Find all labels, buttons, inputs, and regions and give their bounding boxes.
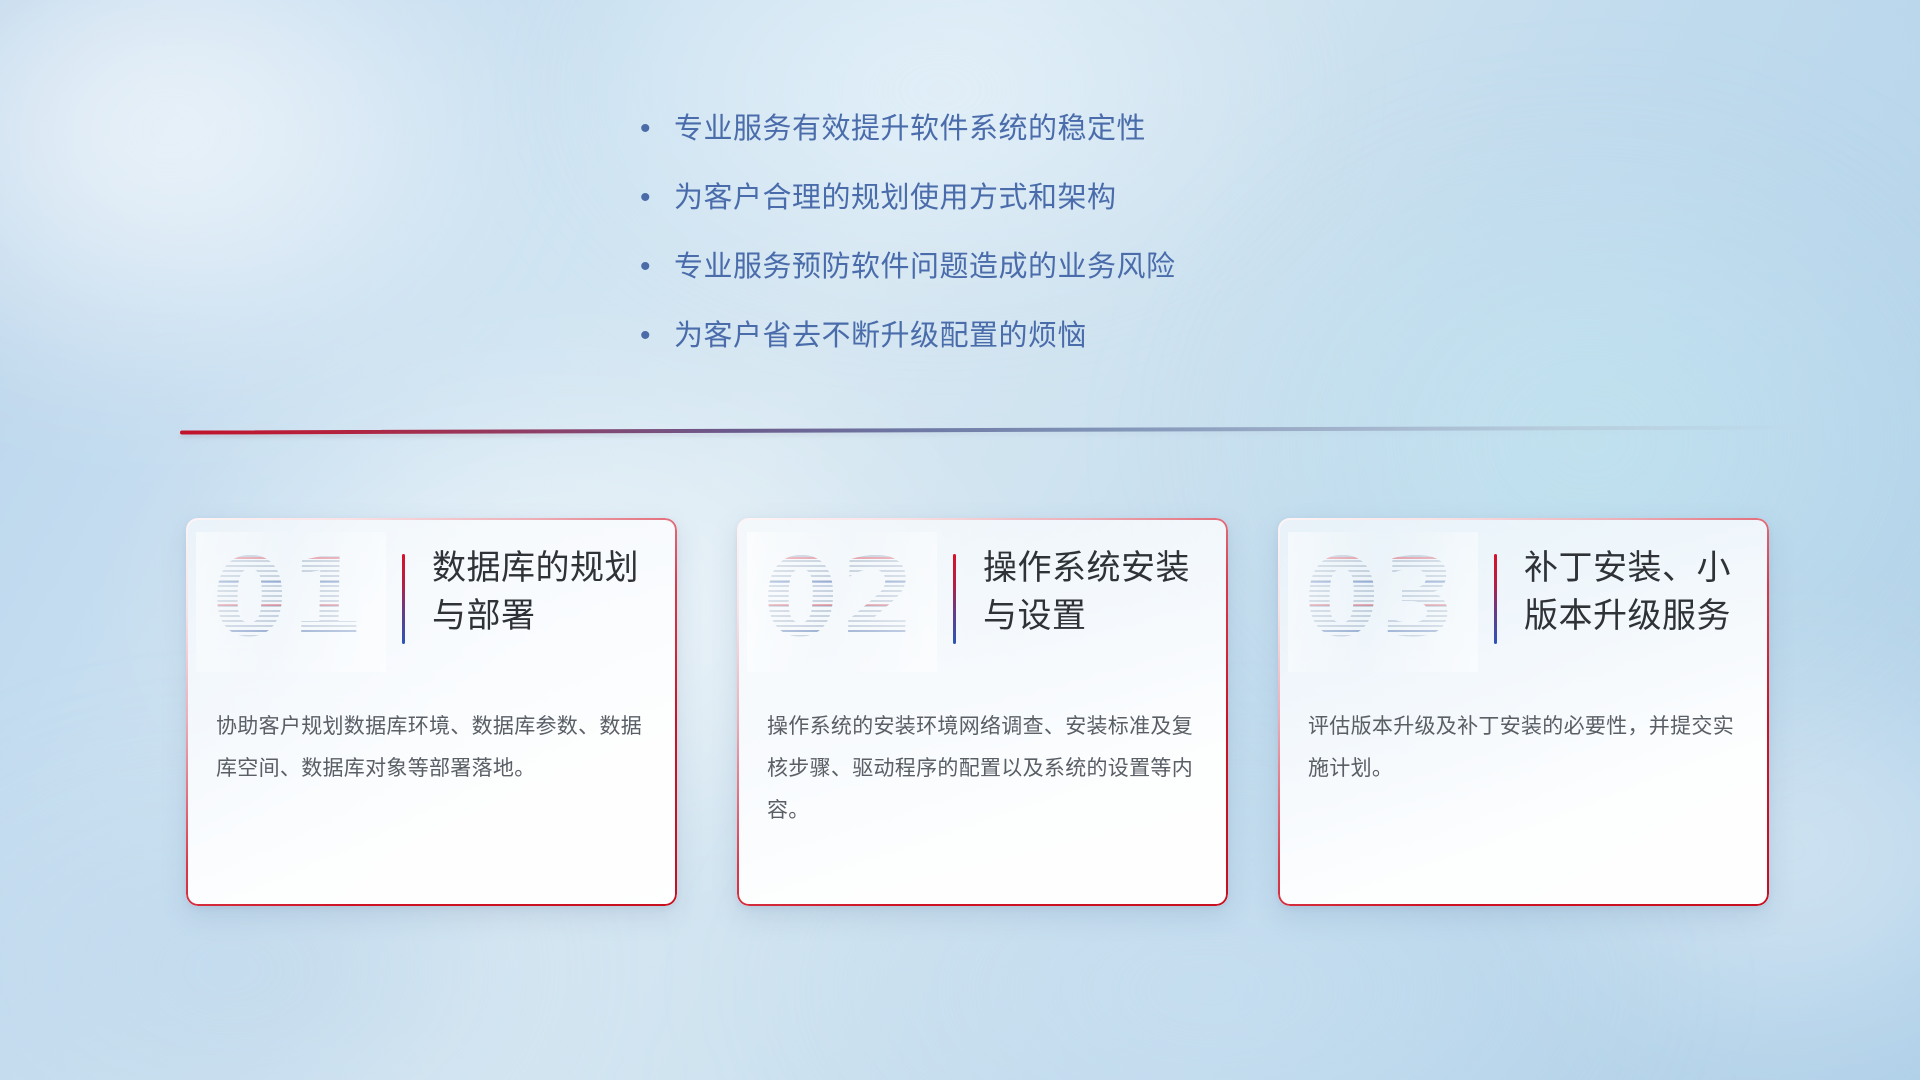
card-number-ghost: 01	[211, 540, 365, 658]
bullet-dot-icon: •	[640, 179, 674, 217]
bullet-text: 为客户省去不断升级配置的烦恼	[674, 317, 1087, 355]
bullet-dot-icon: •	[640, 110, 674, 148]
card-header: 01 01 数据库的规划与部署	[186, 518, 677, 678]
list-item: • 为客户省去不断升级配置的烦恼	[640, 317, 1500, 355]
bullet-text: 专业服务预防软件问题造成的业务风险	[674, 248, 1176, 286]
section-divider-rule	[180, 425, 1810, 437]
list-item: • 专业服务有效提升软件系统的稳定性	[640, 110, 1500, 148]
card-title-divider	[1494, 554, 1497, 644]
card-header: 03 03 补丁安装、小版本升级服务	[1278, 518, 1769, 678]
bullet-text: 为客户合理的规划使用方式和架构	[674, 179, 1117, 217]
card-body-text: 协助客户规划数据库环境、数据库参数、数据库空间、数据库对象等部署落地。	[216, 706, 644, 790]
card-number-ghost: 03	[1303, 540, 1457, 658]
service-card-01[interactable]: 01 01 数据库的规划与部署 协助客户规划数据库环境、数据库参数、数据库空间、…	[186, 518, 677, 906]
service-card-02[interactable]: 02 02 操作系统安装与设置 操作系统的安装环境网络调查、安装标准及复核步骤、…	[737, 518, 1228, 906]
list-item: • 专业服务预防软件问题造成的业务风险	[640, 248, 1500, 286]
list-item: • 为客户合理的规划使用方式和架构	[640, 179, 1500, 217]
benefit-bullet-list: • 专业服务有效提升软件系统的稳定性 • 为客户合理的规划使用方式和架构 • 专…	[640, 110, 1500, 386]
card-title-divider	[953, 554, 956, 644]
card-number-ghost: 02	[762, 540, 916, 658]
card-title-divider	[402, 554, 405, 644]
bullet-dot-icon: •	[640, 248, 674, 286]
bullet-text: 专业服务有效提升软件系统的稳定性	[674, 110, 1146, 148]
card-title: 补丁安装、小版本升级服务	[1524, 544, 1750, 640]
slide-canvas: • 专业服务有效提升软件系统的稳定性 • 为客户合理的规划使用方式和架构 • 专…	[0, 0, 1920, 1080]
bullet-dot-icon: •	[640, 317, 674, 355]
card-header: 02 02 操作系统安装与设置	[737, 518, 1228, 678]
card-title: 操作系统安装与设置	[983, 544, 1209, 640]
service-card-03[interactable]: 03 03 补丁安装、小版本升级服务 评估版本升级及补丁安装的必要性，并提交实施…	[1278, 518, 1769, 906]
card-body-text: 评估版本升级及补丁安装的必要性，并提交实施计划。	[1308, 706, 1736, 790]
card-body-text: 操作系统的安装环境网络调查、安装标准及复核步骤、驱动程序的配置以及系统的设置等内…	[767, 706, 1195, 832]
card-title: 数据库的规划与部署	[432, 544, 658, 640]
